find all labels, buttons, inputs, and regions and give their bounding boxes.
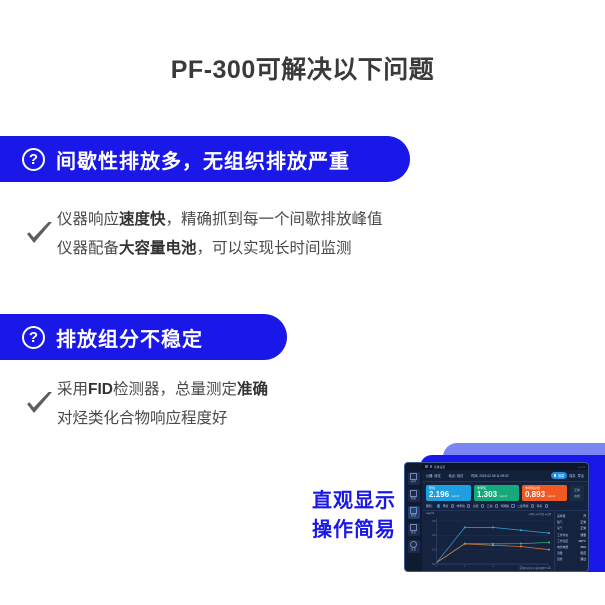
device-side-rail[interactable]: 采样 数据 曲线 报表 设置 [405, 463, 422, 571]
table-row: 工作状态测量 [557, 533, 586, 537]
question-mark-glyph: ? [29, 152, 38, 167]
svg-text:2: 2 [464, 566, 466, 568]
toolbar-actions[interactable]: 测量 保存 导出 [551, 472, 584, 479]
radio-label-6: 苯系 [537, 504, 543, 508]
table-row: 采样器开 [557, 514, 586, 518]
card-label: 非甲烷总烃 [525, 487, 564, 491]
solution-line: 仪器响应速度快，精确抓到每一个间歇排放峰值 [57, 208, 383, 233]
value-cards: 甲烷 2.196 mg/m3 非甲烷 1.303 mg/m3 非甲烷总烃 [422, 482, 588, 503]
radio-label-0: 甲烷 [443, 504, 449, 508]
radio-group-label: 图例： [426, 504, 434, 508]
question-mark-icon: ? [22, 326, 45, 349]
toggle-dot [554, 474, 557, 477]
chart-canvas: 0.01.02.03.012345 [426, 513, 552, 571]
value-card-nmhc: 非甲烷总烃 0.893 mg/m3 [522, 485, 567, 501]
problem-banner-1: ? 间歇性排放多，无组织排放严重 [0, 136, 410, 182]
value-card-methane: 甲烷 2.196 mg/m3 [426, 485, 471, 501]
card-value: 0.893 [525, 491, 545, 499]
device-main: 系统设置 — □ × 仪器: 测试 地点: 测试 时间: 2023-02-08 … [422, 463, 588, 571]
value-card-nonmethane: 非甲烷 1.303 mg/m3 [474, 485, 519, 501]
radio-5[interactable] [511, 504, 514, 507]
svg-text:3: 3 [492, 566, 494, 568]
status-line-2: 在线 [574, 494, 580, 498]
toolbar-time: 时间: 2023-02-08 11:09:52 [471, 473, 509, 478]
titlebar-dot [425, 465, 428, 468]
card-label: 甲烷 [429, 487, 468, 491]
radio-1[interactable] [451, 504, 454, 507]
problem-banner-1-label: 间歇性排放多，无组织排放严重 [56, 145, 350, 174]
card-unit: mg/m3 [499, 495, 507, 498]
radio-3[interactable] [481, 504, 484, 507]
titlebar-app-name: 系统设置 [434, 465, 445, 469]
toolbar-instrument: 仪器: 测试 [426, 473, 441, 478]
table-row: 电池电量98% [557, 545, 586, 549]
radio-6[interactable] [531, 504, 534, 507]
device-body: mg/m3 ●甲烷 ●非甲烷 ●总烃 0.01.02.03.012345 采样时… [422, 511, 588, 571]
trend-chart: mg/m3 ●甲烷 ●非甲烷 ●总烃 0.01.02.03.012345 采样时… [422, 511, 554, 571]
radio-2[interactable] [467, 504, 470, 507]
table-row: 工作温度185℃ [557, 539, 586, 543]
check-icon [24, 218, 54, 248]
radio-label-4: 丙烯腈 [501, 504, 509, 508]
card-label: 非甲烷 [477, 487, 516, 491]
svg-text:1: 1 [436, 566, 438, 568]
device-toolbar: 仪器: 测试 地点: 测试 时间: 2023-02-08 11:09:52 测量… [422, 470, 588, 482]
svg-text:3.0: 3.0 [432, 520, 436, 523]
series-radio-group[interactable]: 图例： 甲烷 非甲烷 总烃 乙烷 丙烯腈 二氯甲烷 苯系 [422, 503, 588, 511]
solution-block-2: 采用FID检测器，总量测定准确 对烃类化合物响应程度好 [24, 378, 268, 432]
solution-block-1: 仪器响应速度快，精确抓到每一个间歇排放峰值 仪器配备大容量电池，可以实现长时间监… [24, 208, 383, 262]
card-unit: mg/m3 [547, 495, 555, 498]
check-icon [24, 388, 54, 418]
device-caption: 直观显示 操作简易 [312, 487, 396, 545]
solution-lines-1: 仪器响应速度快，精确抓到每一个间歇排放峰值 仪器配备大容量电池，可以实现长时间监… [57, 208, 383, 262]
question-mark-glyph: ? [29, 330, 38, 345]
radio-0[interactable] [437, 504, 440, 507]
question-mark-icon: ? [22, 148, 45, 171]
caption-line-2: 操作简易 [312, 516, 396, 545]
problem-banner-2-label: 排放组分不稳定 [56, 323, 203, 352]
rail-item-3[interactable]: 曲线 [408, 506, 420, 519]
table-row: 氢气正常 [557, 526, 586, 530]
svg-text:2.0: 2.0 [432, 534, 436, 537]
status-table: 采样器开 载气正常 氢气正常 工作状态测量 工作温度185℃ 电池电量98% 流… [554, 511, 588, 571]
rail-item-4[interactable]: 报表 [408, 523, 420, 536]
rail-item-1[interactable]: 采样 [408, 472, 420, 485]
solution-line: 采用FID检测器，总量测定准确 [57, 378, 268, 403]
radio-4[interactable] [495, 504, 498, 507]
card-value: 1.303 [477, 491, 497, 499]
radio-label-3: 乙烷 [487, 504, 493, 508]
measure-toggle[interactable]: 测量 [551, 472, 567, 479]
window-controls[interactable]: — □ × [577, 465, 585, 469]
table-row: 流量稳定 [557, 551, 586, 555]
infographic-page: PF-300可解决以下问题 ? 间歇性排放多，无组织排放严重 仪器响应速度快，精… [0, 0, 605, 605]
status-line-1: 正常 [574, 488, 580, 492]
radio-label-5: 二氯甲烷 [517, 504, 528, 508]
chart-legend: ●甲烷 ●非甲烷 ●总烃 [529, 512, 551, 516]
caption-line-1: 直观显示 [312, 487, 396, 516]
problem-banner-2: ? 排放组分不稳定 [0, 314, 287, 360]
table-row: 自检通过 [557, 557, 586, 561]
rail-item-5[interactable]: 设置 [408, 540, 420, 553]
device-titlebar: 系统设置 — □ × [422, 463, 588, 470]
svg-text:1.0: 1.0 [432, 549, 436, 552]
solution-line: 仪器配备大容量电池，可以实现长时间监测 [57, 237, 383, 262]
radio-7[interactable] [545, 504, 548, 507]
card-value: 2.196 [429, 491, 449, 499]
toolbar-location: 地点: 测试 [449, 473, 464, 478]
chart-footer: 采样时间(min) 采样周期 5 min [519, 566, 551, 570]
save-button[interactable]: 保存 [569, 473, 575, 478]
radio-label-2: 总烃 [473, 504, 479, 508]
radio-label-1: 非甲烷 [456, 504, 464, 508]
rail-item-2[interactable]: 数据 [408, 489, 420, 502]
card-unit: mg/m3 [451, 495, 459, 498]
status-badge: 正常 在线 [570, 485, 584, 501]
device-screenshot: 采样 数据 曲线 报表 设置 系统设置 — □ × 仪器: 测试 地点: 测试 … [404, 462, 589, 572]
page-title: PF-300可解决以下问题 [0, 50, 605, 86]
table-row: 载气正常 [557, 520, 586, 524]
titlebar-dot [430, 465, 433, 468]
chart-y-unit: mg/m3 [426, 512, 434, 515]
export-button[interactable]: 导出 [578, 473, 584, 478]
solution-lines-2: 采用FID检测器，总量测定准确 对烃类化合物响应程度好 [57, 378, 268, 432]
solution-line: 对烃类化合物响应程度好 [57, 407, 268, 432]
